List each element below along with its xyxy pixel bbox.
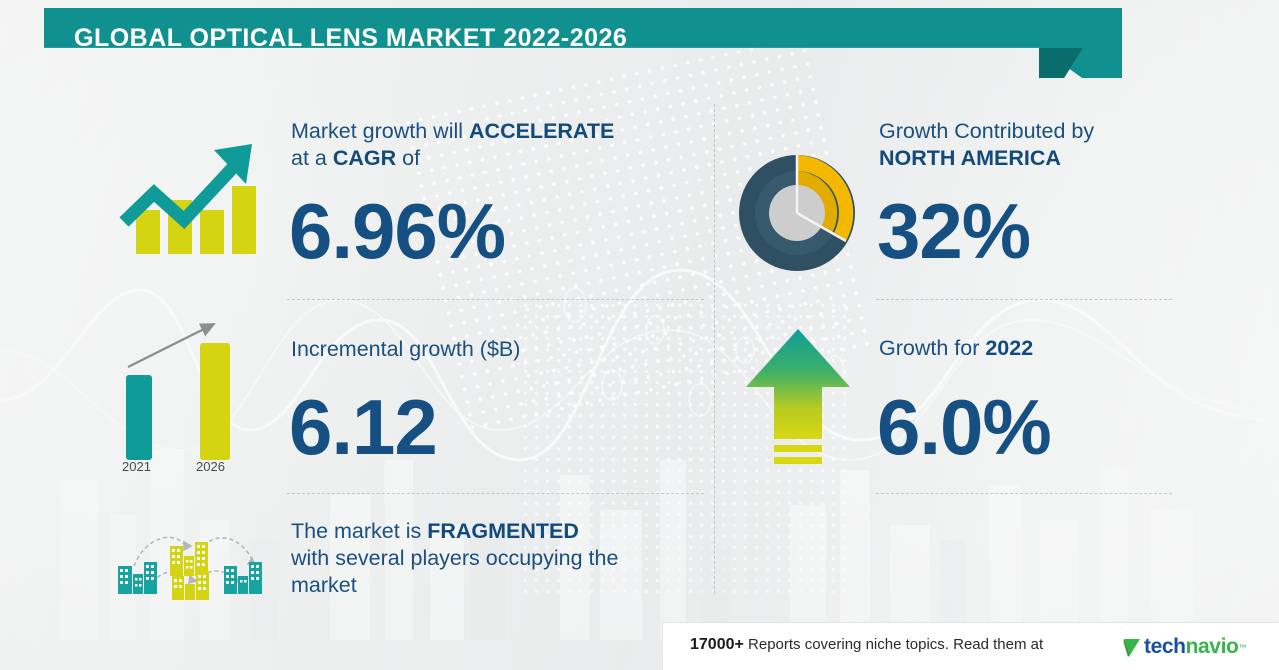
left-divider-1 (287, 299, 704, 300)
regional-contribution-region: NORTH AMERICA (879, 146, 1061, 170)
fragmentation-line1-bold: FRAGMENTED (427, 519, 579, 543)
bar-label-2021: 2021 (122, 459, 151, 474)
logo-text-tech: tech (1144, 635, 1186, 659)
logo-trademark: ™ (1238, 643, 1246, 652)
page-title: GLOBAL OPTICAL LENS MARKET 2022-2026 (74, 24, 627, 53)
incremental-growth-value: 6.12 (289, 388, 437, 466)
column-divider (714, 104, 715, 594)
cagr-lead-line1-pre: Market growth will (291, 119, 469, 143)
up-arrow-icon (742, 325, 854, 473)
infographic-page: GLOBAL OPTICAL LENS MARKET 2022-2026 Mar… (0, 0, 1279, 670)
right-divider-2 (876, 493, 1172, 494)
right-divider-1 (876, 299, 1172, 300)
growth-2022-label: Growth for (879, 336, 985, 360)
cagr-lead-line2-bold: CAGR (333, 146, 396, 170)
footer-report-count: 17000+ (690, 636, 744, 653)
technavio-pennant-icon (1122, 636, 1142, 658)
cagr-value: 6.96% (289, 192, 505, 270)
regional-contribution-lead-text: Growth Contributed by NORTH AMERICA (879, 118, 1179, 172)
left-divider-2 (287, 493, 704, 494)
fragmentation-lead-text: The market is FRAGMENTED with several pl… (291, 518, 691, 599)
fragmentation-line3: market (291, 573, 357, 597)
cagr-lead-text: Market growth will ACCELERATE at a CAGR … (291, 118, 691, 172)
donut-chart-icon (736, 152, 858, 274)
cagr-lead-line2-pre: at a (291, 146, 333, 170)
cagr-lead-line2-post: of (396, 146, 420, 170)
growth-2022-lead-text: Growth for 2022 (879, 335, 1179, 362)
fragmentation-line2: with several players occupying the (291, 546, 618, 570)
growth-2022-year: 2022 (985, 336, 1033, 360)
growth-2022-value: 6.0% (877, 388, 1051, 466)
cagr-lead-line1-bold: ACCELERATE (469, 119, 614, 143)
incremental-growth-lead-text: Incremental growth ($B) (291, 336, 691, 363)
bar-label-2026: 2026 (196, 459, 225, 474)
technavio-logo[interactable]: tech navio ™ (1122, 634, 1246, 660)
incremental-growth-label: Incremental growth ($B) (291, 337, 520, 361)
footer-description: Reports covering niche topics. Read them… (748, 636, 1043, 653)
logo-text-navio: navio (1186, 635, 1239, 659)
regional-contribution-line1: Growth Contributed by (879, 119, 1094, 143)
footer-text: 17000+ Reports covering niche topics. Re… (690, 636, 1043, 654)
city-clusters-icon (112, 518, 272, 604)
two-bar-chart-icon (112, 305, 272, 480)
fragmentation-line1-pre: The market is (291, 519, 427, 543)
growth-arrow-chart-icon (118, 138, 266, 256)
regional-contribution-value: 32% (877, 192, 1030, 270)
